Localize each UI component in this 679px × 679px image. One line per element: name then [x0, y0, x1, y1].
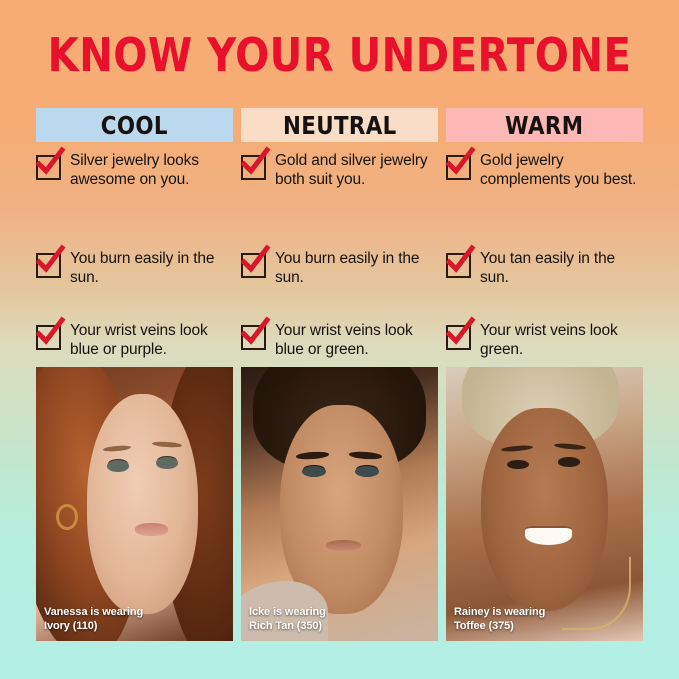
column-header-cool: COOL [36, 108, 233, 142]
list-item-label: Your wrist veins look blue or green. [275, 322, 438, 360]
lips [135, 523, 168, 535]
model-photo-rainey: Rainey is wearing Toffee (375) [446, 367, 643, 641]
photo-caption: Vanessa is wearing Ivory (110) [44, 606, 143, 633]
checkmark-icon [241, 253, 266, 278]
list-item-label: Your wrist veins look green. [480, 322, 643, 360]
checkmark-icon [446, 155, 471, 180]
eye-left [302, 466, 326, 477]
checklist-columns: Silver jewelry looks awesome on you. You… [36, 152, 643, 352]
list-item-label: You burn easily in the sun. [70, 250, 233, 288]
photo-caption-line2: Toffee (375) [454, 620, 545, 633]
eye-right [558, 457, 580, 466]
photo-caption: Icke is wearing Rich Tan (350) [249, 606, 326, 633]
checkmark-icon [36, 325, 61, 350]
list-item: Gold jewelry complements you best. [446, 152, 643, 230]
checkmark-icon [241, 325, 266, 350]
page-title: KNOW YOUR UNDERTONE [10, 32, 669, 78]
eye-right [355, 466, 379, 477]
model-photo-row: Vanessa is wearing Ivory (110) Icke is w… [36, 367, 643, 641]
photo-caption-line1: Icke is wearing [249, 606, 326, 619]
checkmark-icon [36, 253, 61, 278]
model-photo-vanessa: Vanessa is wearing Ivory (110) [36, 367, 233, 641]
checklist-column-neutral: Gold and silver jewelry both suit you. Y… [241, 152, 438, 352]
column-header-cool-label: COOL [101, 111, 168, 140]
list-item-label: You tan easily in the sun. [480, 250, 643, 288]
list-item: You burn easily in the sun. [36, 250, 233, 302]
photo-caption-line2: Rich Tan (350) [249, 620, 326, 633]
necklace-icon [562, 557, 631, 630]
list-item-label: Silver jewelry looks awesome on you. [70, 152, 233, 190]
photo-caption: Rainey is wearing Toffee (375) [454, 606, 545, 633]
list-item: You tan easily in the sun. [446, 250, 643, 302]
list-item: Your wrist veins look green. [446, 322, 643, 360]
face [87, 394, 197, 613]
list-item-label: Gold jewelry complements you best. [480, 152, 643, 190]
column-header-warm: WARM [446, 108, 643, 142]
model-photo-icke: Icke is wearing Rich Tan (350) [241, 367, 438, 641]
undertone-header-row: COOL NEUTRAL WARM [36, 108, 643, 142]
checkmark-icon [36, 155, 61, 180]
lips [326, 540, 361, 551]
checkmark-icon [446, 253, 471, 278]
infographic-root: KNOW YOUR UNDERTONE COOL NEUTRAL WARM Si… [0, 0, 679, 679]
list-item-label: Gold and silver jewelry both suit you. [275, 152, 438, 190]
list-item: Gold and silver jewelry both suit you. [241, 152, 438, 230]
eye-left [107, 460, 129, 472]
earring-icon [56, 504, 78, 530]
checklist-column-warm: Gold jewelry complements you best. You t… [446, 152, 643, 352]
list-item: Your wrist veins look blue or green. [241, 322, 438, 360]
column-header-neutral-label: NEUTRAL [283, 111, 397, 140]
photo-caption-line1: Rainey is wearing [454, 606, 545, 619]
list-item: Silver jewelry looks awesome on you. [36, 152, 233, 230]
smile [525, 526, 572, 545]
list-item: You burn easily in the sun. [241, 250, 438, 302]
list-item: Your wrist veins look blue or purple. [36, 322, 233, 360]
checklist-column-cool: Silver jewelry looks awesome on you. You… [36, 152, 233, 352]
photo-caption-line2: Ivory (110) [44, 620, 143, 633]
checkmark-icon [446, 325, 471, 350]
photo-caption-line1: Vanessa is wearing [44, 606, 143, 619]
column-header-warm-label: WARM [505, 111, 583, 140]
list-item-label: You burn easily in the sun. [275, 250, 438, 288]
eye-right [156, 457, 178, 469]
list-item-label: Your wrist veins look blue or purple. [70, 322, 233, 360]
column-header-neutral: NEUTRAL [241, 108, 438, 142]
checkmark-icon [241, 155, 266, 180]
